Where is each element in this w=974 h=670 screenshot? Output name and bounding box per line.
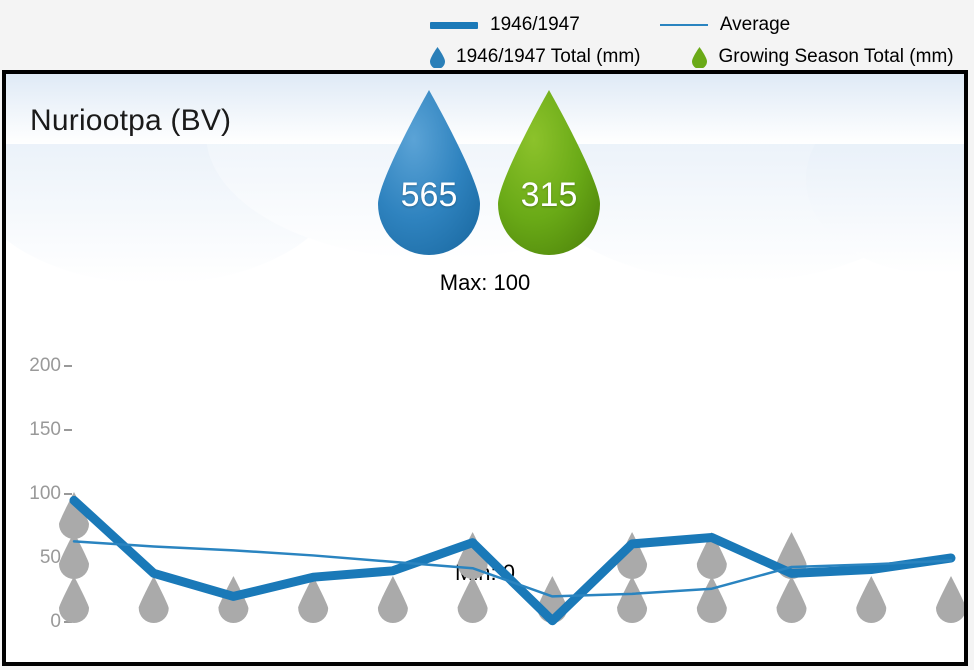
legend-item-season-line: 1946/1947 (430, 14, 580, 36)
green-droplet-shape-icon (494, 88, 604, 258)
growing-total-value: 315 (494, 176, 604, 215)
legend-item-growing-total: Growing Season Total (mm) (692, 46, 953, 68)
chart-panel: Nuriootpa (BV) 565 (2, 70, 968, 666)
green-droplet-icon (692, 47, 707, 68)
totals-droplets: 565 315 (374, 88, 624, 268)
legend-item-average-line: Average (660, 14, 790, 36)
chart-legend: 1946/1947 Average 1946/1947 Total (mm) G… (0, 0, 974, 72)
legend-row-lines: 1946/1947 Average (430, 14, 818, 36)
blue-droplet-shape-icon (374, 88, 484, 258)
legend-row-totals: 1946/1947 Total (mm) Growing Season Tota… (430, 46, 974, 68)
thick-line-swatch-icon (430, 22, 478, 29)
season-total-droplet: 565 (374, 88, 484, 258)
legend-item-season-total: 1946/1947 Total (mm) (430, 46, 640, 68)
plot-svg (6, 270, 964, 662)
legend-label-season-total: 1946/1947 Total (mm) (456, 46, 640, 68)
rainfall-plot: Max: 100 Min: 0 050100150200 (6, 270, 964, 662)
legend-label-growing-total: Growing Season Total (mm) (718, 46, 953, 68)
legend-label-season-line: 1946/1947 (490, 14, 580, 36)
blue-droplet-icon (430, 47, 445, 68)
legend-label-average-line: Average (720, 14, 790, 36)
series-line-1946-1947 (74, 500, 951, 620)
rain-droplet-markers (59, 492, 964, 623)
season-total-value: 565 (374, 176, 484, 215)
thin-line-swatch-icon (660, 24, 708, 26)
growing-total-droplet: 315 (494, 88, 604, 258)
page-title: Nuriootpa (BV) (30, 104, 231, 138)
